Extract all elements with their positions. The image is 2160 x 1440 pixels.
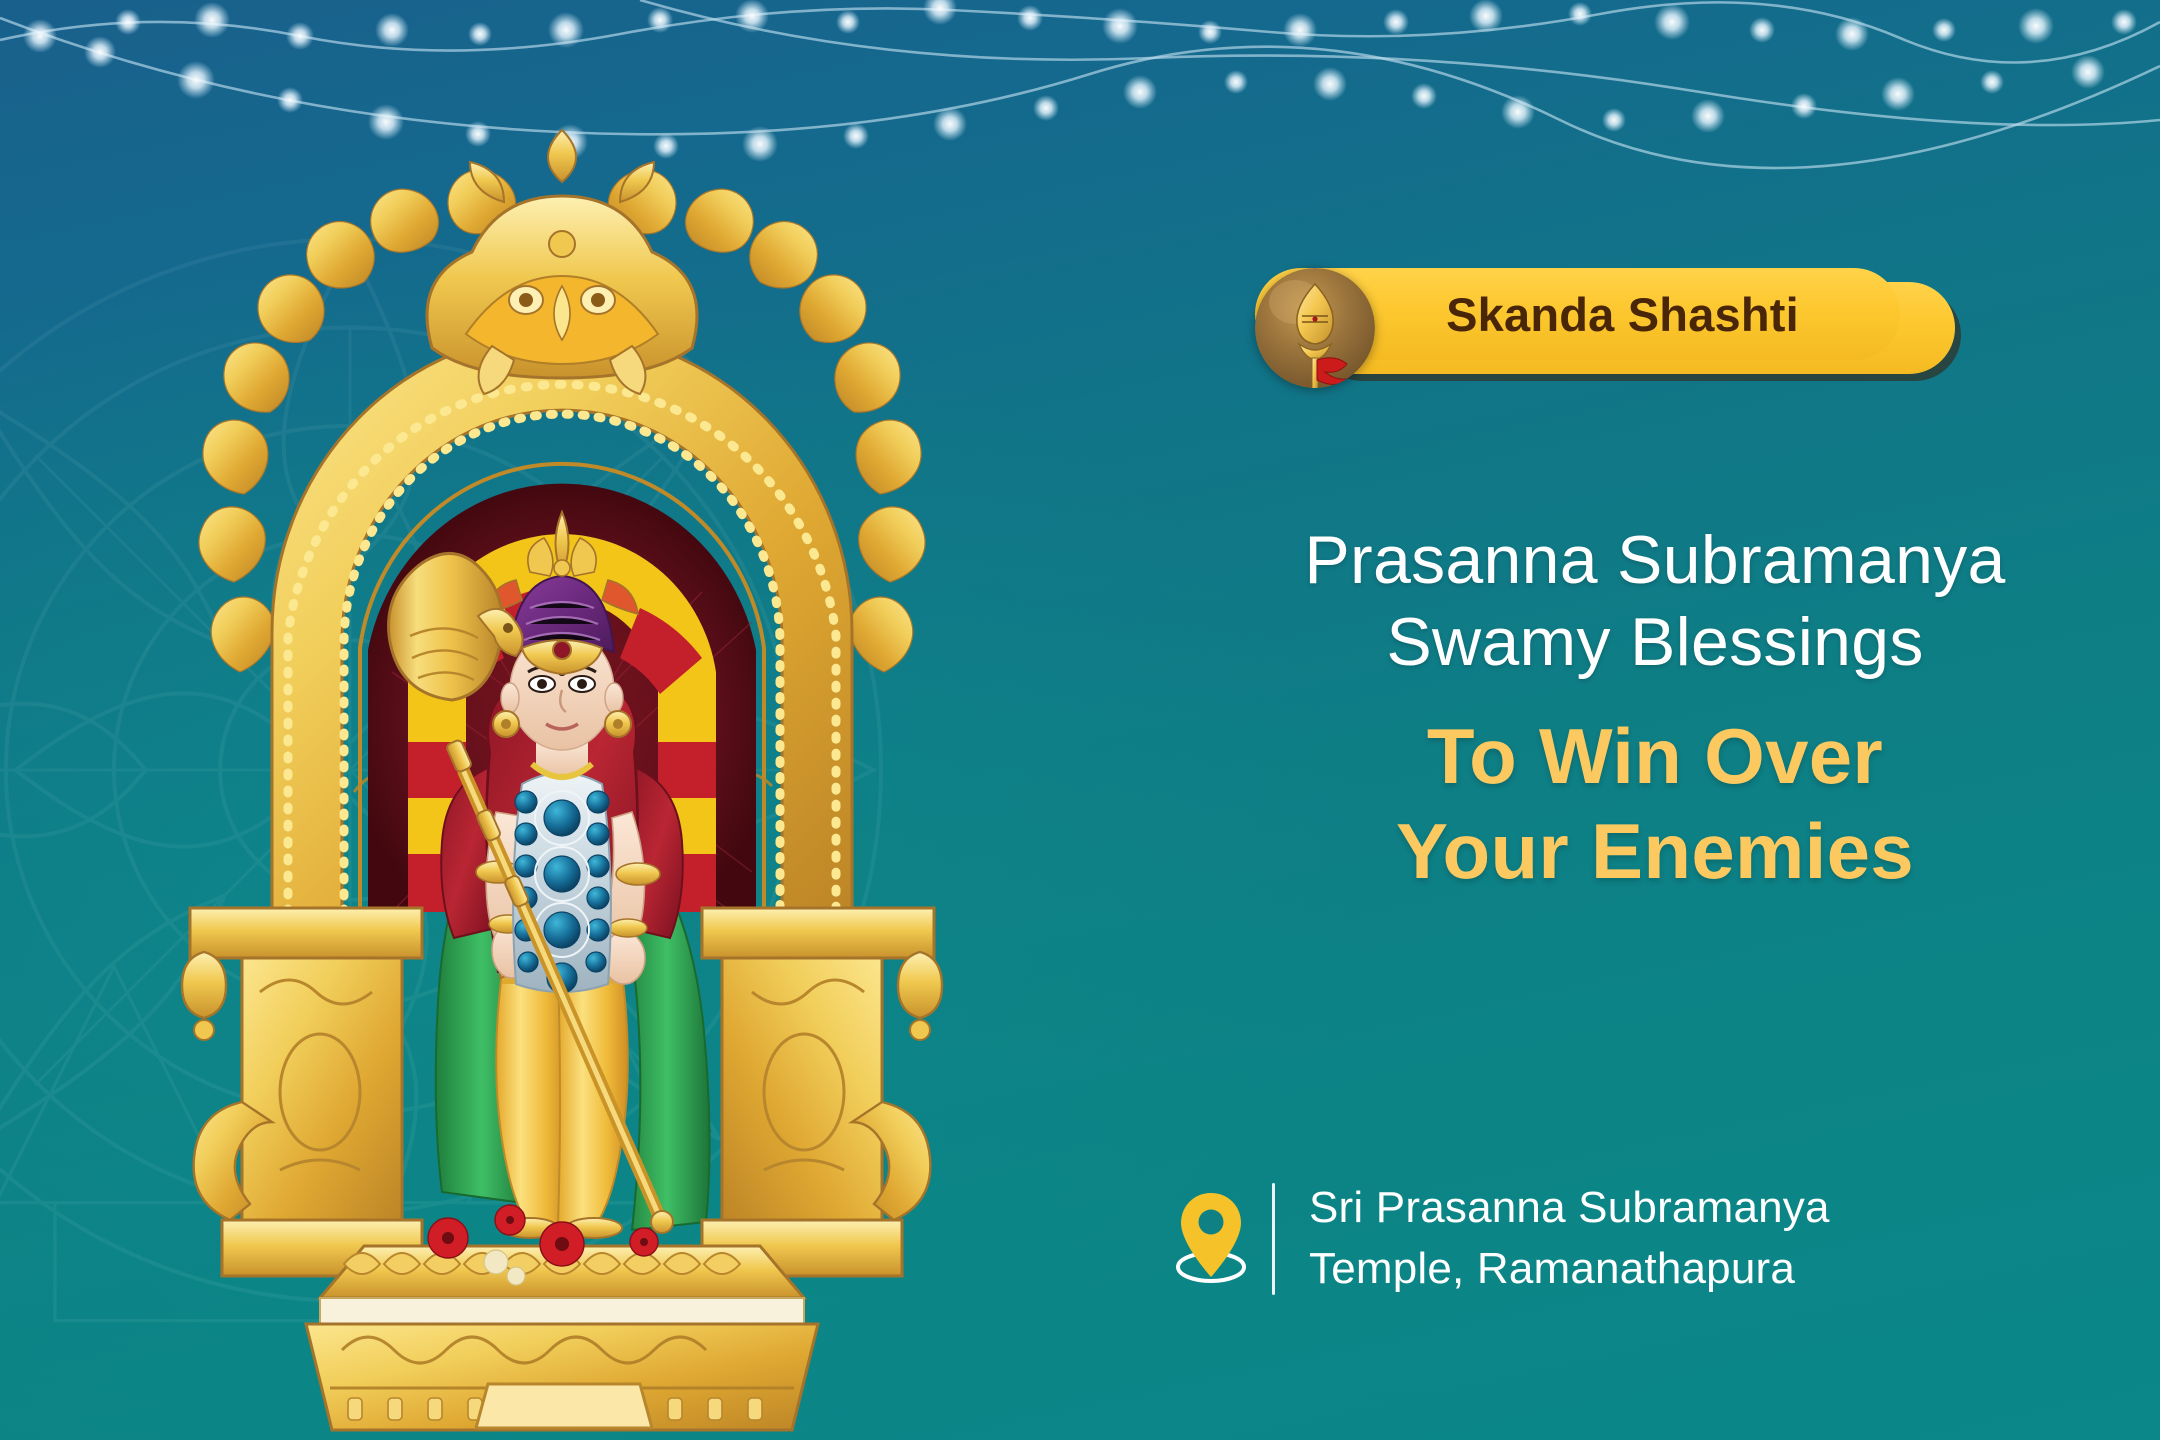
headline-white-line-2: Swamy Blessings bbox=[1150, 602, 2160, 684]
headline-block: Prasanna Subramanya Swamy Blessings To W… bbox=[1150, 520, 2160, 900]
location-pin-icon bbox=[1172, 1187, 1250, 1291]
lord-subramanya-deity-illustration bbox=[92, 112, 1032, 1440]
location-line-2: Temple, Ramanathapura bbox=[1309, 1239, 1830, 1300]
location-divider bbox=[1272, 1183, 1275, 1295]
headline-gold-line-1: To Win Over bbox=[1150, 709, 2160, 804]
location-line-1: Sri Prasanna Subramanya bbox=[1309, 1178, 1830, 1239]
poster-canvas: Skanda Shashti bbox=[0, 0, 2160, 1440]
location-text: Sri Prasanna Subramanya Temple, Ramanath… bbox=[1309, 1178, 1830, 1299]
headline-white-line-1: Prasanna Subramanya bbox=[1150, 520, 2160, 602]
headline-gold: To Win Over Your Enemies bbox=[1150, 709, 2160, 899]
vel-spear-icon bbox=[1255, 268, 1375, 388]
festival-badge[interactable]: Skanda Shashti bbox=[1255, 268, 1955, 388]
location-row: Sri Prasanna Subramanya Temple, Ramanath… bbox=[1172, 1178, 2132, 1299]
content-column: Skanda Shashti bbox=[1150, 0, 2160, 1440]
headline-gold-line-2: Your Enemies bbox=[1150, 804, 2160, 899]
headline-white: Prasanna Subramanya Swamy Blessings bbox=[1150, 520, 2160, 683]
